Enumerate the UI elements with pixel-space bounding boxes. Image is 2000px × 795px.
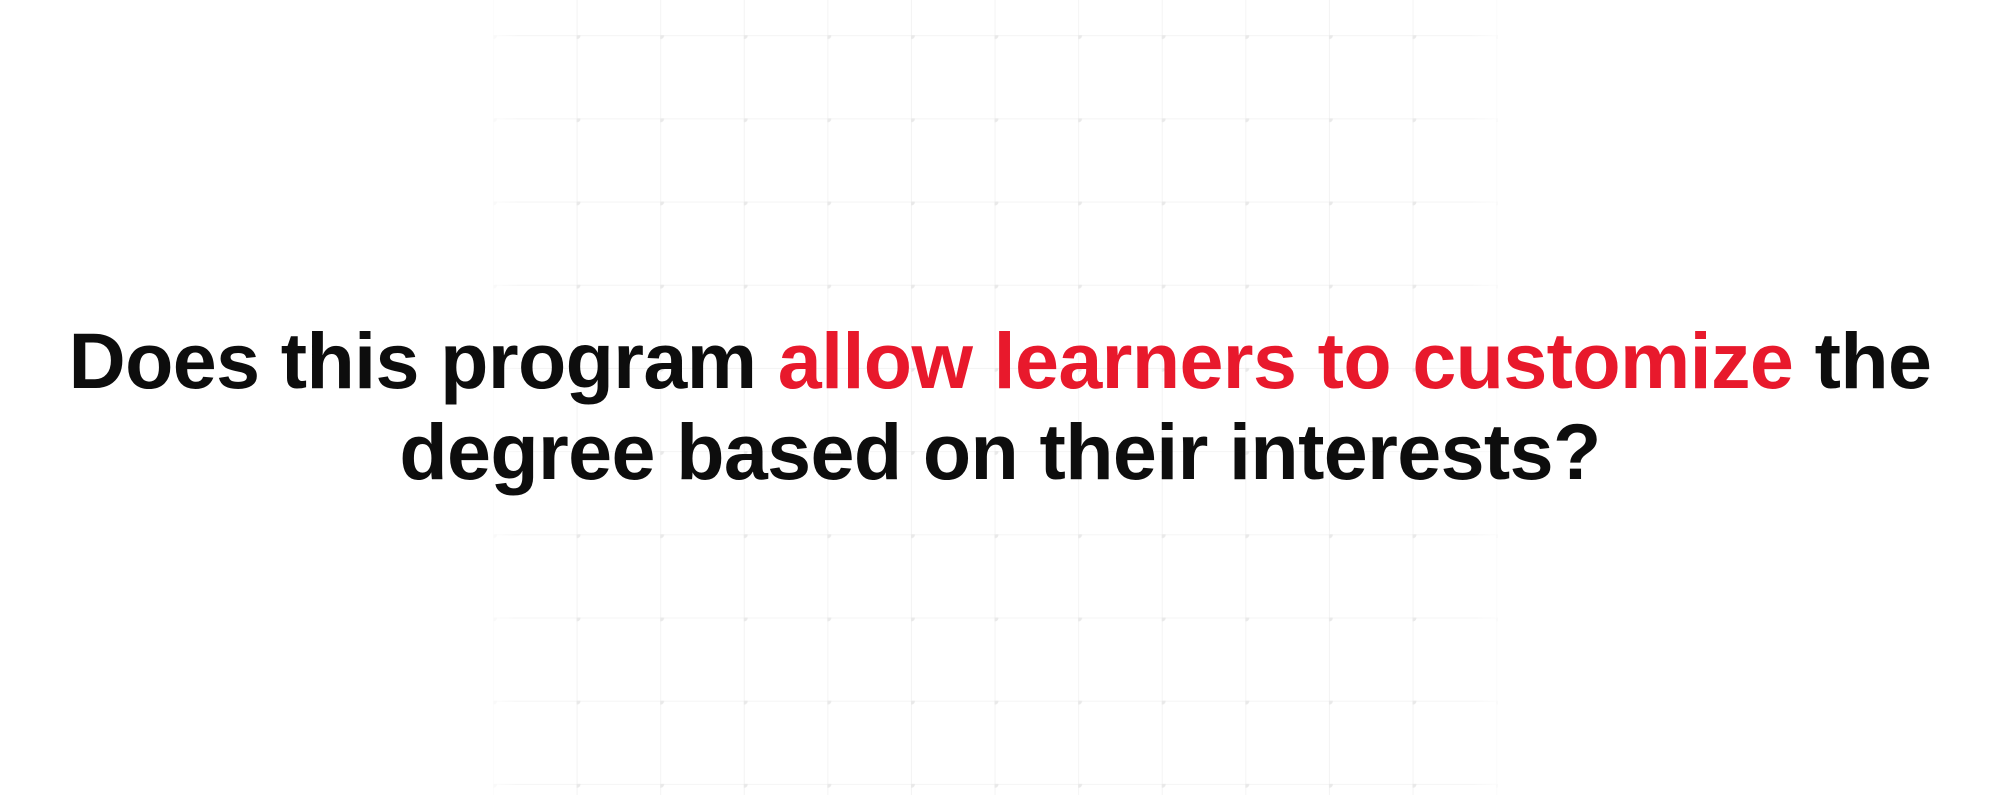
headline-accent-text: allow learners to customize: [778, 316, 1794, 405]
page-title: Does this program allow learners to cust…: [60, 316, 1940, 496]
headline-lead-text: Does this program: [69, 316, 778, 405]
slide-canvas: Does this program allow learners to cust…: [0, 0, 2000, 795]
headline-container: Does this program allow learners to cust…: [0, 0, 2000, 795]
